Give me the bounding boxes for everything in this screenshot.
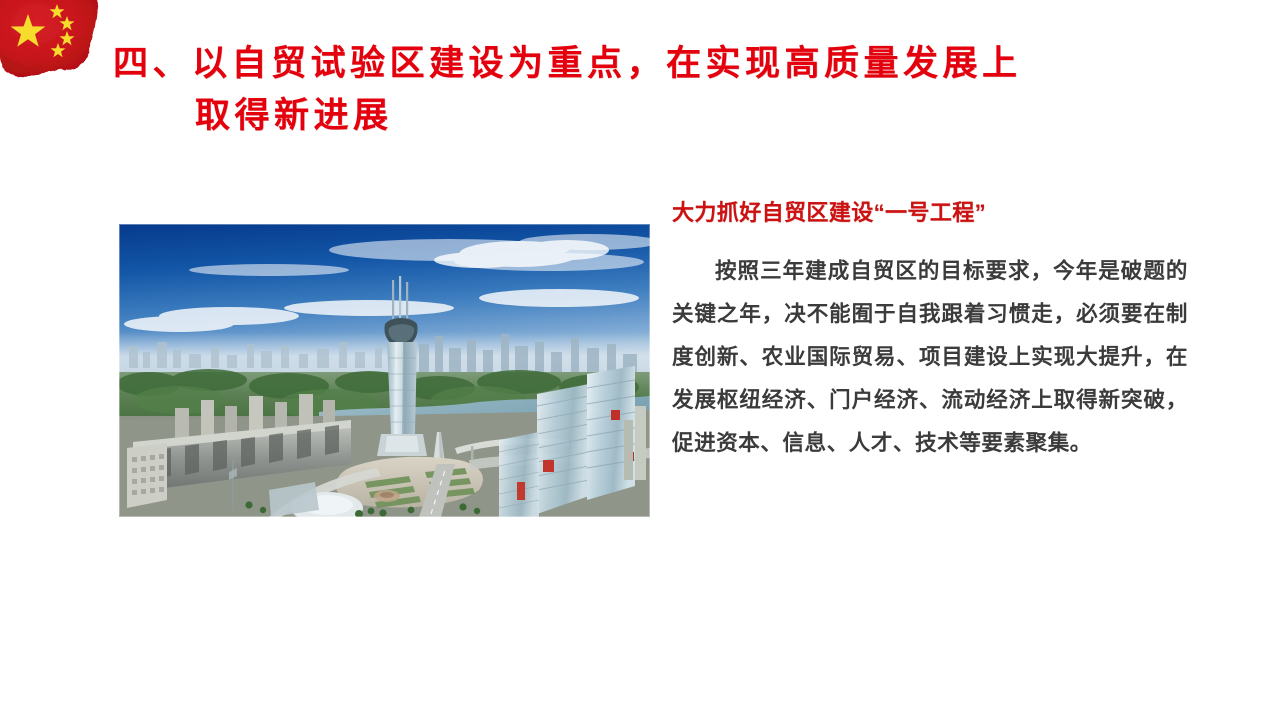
slide-canvas: 四、以自贸试验区建设为重点，在实现高质量发展上 取得新进展: [0, 0, 1280, 720]
section-subheading: 大力抓好自贸区建设“一号工程”: [672, 198, 1188, 228]
section-paragraph: 按照三年建成自贸区的目标要求，今年是破题的关键之年，决不能囿于自我跟着习惯走，必…: [672, 250, 1188, 465]
slide-title-line-1: 四、以自贸试验区建设为重点，在实现高质量发展上: [113, 38, 1193, 90]
city-skyline-image: [119, 224, 650, 517]
right-text-column: 大力抓好自贸区建设“一号工程” 按照三年建成自贸区的目标要求，今年是破题的关键之…: [672, 198, 1188, 465]
china-flag-watercolor-icon: [0, 0, 100, 88]
slide-title-line-2: 取得新进展: [113, 90, 1193, 142]
slide-title: 四、以自贸试验区建设为重点，在实现高质量发展上 取得新进展: [113, 38, 1193, 142]
